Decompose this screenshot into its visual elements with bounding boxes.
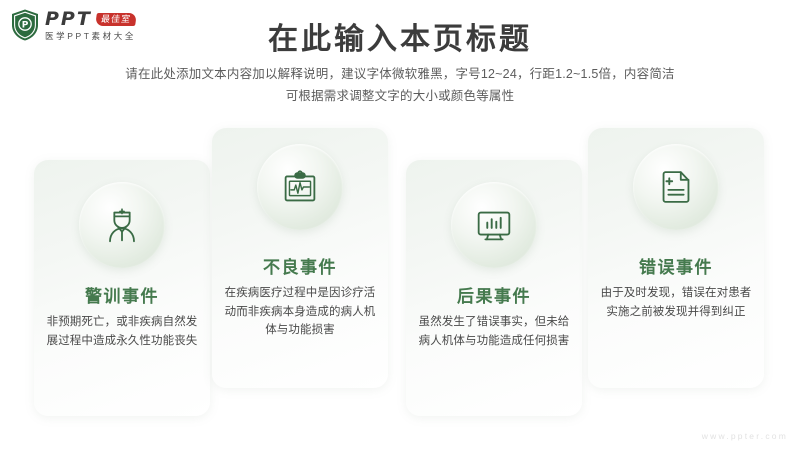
card-group: 警训事件 非预期死亡，或非疾病自然发展过程中造成永久性功能丧失 不良事件 在疾病…: [0, 0, 800, 450]
card-body: 由于及时发现，错误在对患者实施之前被发现并得到纠正: [597, 284, 755, 321]
card-body: 虽然发生了错误事实，但未给病人机体与功能造成任何损害: [415, 313, 573, 350]
card-title: 后果事件: [406, 282, 582, 307]
card-item[interactable]: 警训事件 非预期死亡，或非疾病自然发展过程中造成永久性功能丧失: [34, 160, 210, 416]
card-title: 错误事件: [588, 253, 764, 278]
clipboard-ecg-icon: [257, 144, 343, 230]
card-item[interactable]: 错误事件 由于及时发现，错误在对患者实施之前被发现并得到纠正: [588, 128, 764, 388]
card-item[interactable]: 不良事件 在疾病医疗过程中是因诊疗活动而非疾病本身造成的病人机体与功能损害: [212, 128, 388, 388]
card-title: 不良事件: [212, 253, 388, 278]
card-body: 非预期死亡，或非疾病自然发展过程中造成永久性功能丧失: [43, 313, 201, 350]
card-body: 在疾病医疗过程中是因诊疗活动而非疾病本身造成的病人机体与功能损害: [221, 284, 379, 340]
doctor-icon: [79, 182, 165, 268]
monitor-chart-icon: [451, 182, 537, 268]
footer-watermark: www.ppter.com: [702, 431, 788, 441]
card-item[interactable]: 后果事件 虽然发生了错误事实，但未给病人机体与功能造成任何损害: [406, 160, 582, 416]
card-title: 警训事件: [34, 282, 210, 307]
document-plus-icon: [633, 144, 719, 230]
